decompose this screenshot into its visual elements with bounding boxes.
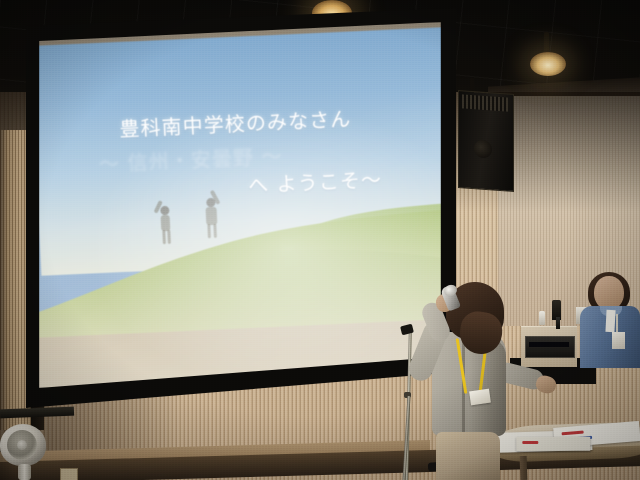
spotlight-right-stem [544,32,549,54]
person2-id-badge [612,332,625,349]
projected-slide: 豊科南中学校のみなさん 〜 信州・安曇野 〜 へ ようこそ〜 [39,22,441,388]
wall-outlet [60,468,78,480]
speaker-dome-icon [17,440,27,450]
slide-figure-right [202,196,222,239]
pa-speaker-driver-icon [474,139,492,158]
person2-head [594,276,624,310]
person2-inner-shirt [605,310,615,332]
presenter-id-badge [469,389,491,406]
person2-lanyard [616,314,618,334]
presenter [404,282,572,480]
monitor-stand-neck [18,464,31,480]
photo-scene: 豊科南中学校のみなさん 〜 信州・安曇野 〜 へ ようこそ〜 [0,0,640,480]
seated-person-denim [578,276,640,366]
spotlight-right-icon [530,52,566,76]
presenter-trousers [436,432,500,480]
projection-screen: 豊科南中学校のみなさん 〜 信州・安曇野 〜 へ ようこそ〜 [26,8,456,408]
presenter-extended-hand [534,374,558,396]
slide-figure-left [156,204,176,245]
